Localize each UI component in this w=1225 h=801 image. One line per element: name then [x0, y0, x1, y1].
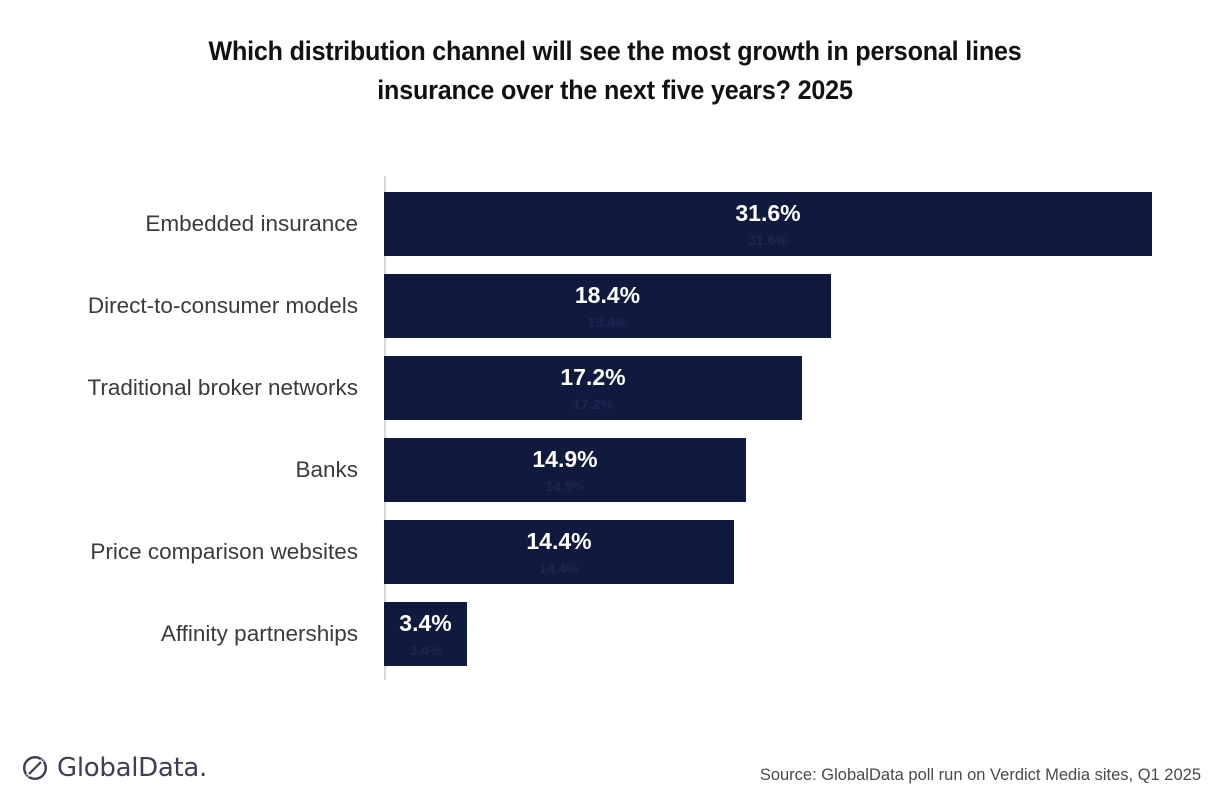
- bar-track: 18.4% 18.4%: [384, 274, 831, 338]
- bar-value-label: 31.6%: [735, 202, 800, 225]
- bar-value-label: 3.4%: [399, 612, 451, 635]
- bar-category-label: Affinity partnerships: [0, 602, 358, 666]
- bar-value-shadow-label: 18.4%: [588, 315, 628, 329]
- bar-rect[interactable]: 17.2% 17.2%: [384, 356, 802, 420]
- source-note: Source: GlobalData poll run on Verdict M…: [760, 766, 1201, 785]
- bar-rect[interactable]: 14.9% 14.9%: [384, 438, 746, 502]
- chart-title-line-2: insurance over the next five years? 2025: [173, 71, 1057, 110]
- bar-value-shadow-label: 14.4%: [539, 561, 579, 575]
- bar-label-group: 14.4% 14.4%: [384, 520, 734, 584]
- bar-value-shadow-label: 3.4%: [410, 643, 442, 657]
- bar-track: 17.2% 17.2%: [384, 356, 802, 420]
- bar-rect[interactable]: 3.4% 3.4%: [384, 602, 467, 666]
- bar-track: 14.9% 14.9%: [384, 438, 746, 502]
- bar-category-label: Traditional broker networks: [0, 356, 358, 420]
- chart-figure: Which distribution channel will see the …: [0, 0, 1225, 801]
- bar-value-label: 14.4%: [526, 530, 591, 553]
- bar-category-label: Embedded insurance: [0, 192, 358, 256]
- bar-label-group: 17.2% 17.2%: [384, 356, 802, 420]
- bar-label-group: 3.4% 3.4%: [384, 602, 467, 666]
- bar-rect[interactable]: 18.4% 18.4%: [384, 274, 831, 338]
- bar-value-label: 17.2%: [560, 366, 625, 389]
- bar-category-label: Price comparison websites: [0, 520, 358, 584]
- bar-value-shadow-label: 17.2%: [573, 397, 613, 411]
- bar-label-group: 31.6% 31.6%: [384, 192, 1152, 256]
- bar-label-group: 14.9% 14.9%: [384, 438, 746, 502]
- globaldata-circle-slash-icon: [20, 753, 50, 783]
- bar-category-label: Direct-to-consumer models: [0, 274, 358, 338]
- chart-title-line-1: Which distribution channel will see the …: [173, 32, 1057, 71]
- bar-track: 31.6% 31.6%: [384, 192, 1152, 256]
- bar-rect[interactable]: 14.4% 14.4%: [384, 520, 734, 584]
- bar-value-label: 18.4%: [575, 284, 640, 307]
- chart-title: Which distribution channel will see the …: [173, 32, 1057, 109]
- bar-track: 3.4% 3.4%: [384, 602, 467, 666]
- bar-value-shadow-label: 31.6%: [748, 233, 788, 247]
- bar-category-label: Banks: [0, 438, 358, 502]
- brand-logo: GlobalData.: [20, 748, 207, 788]
- bar-track: 14.4% 14.4%: [384, 520, 734, 584]
- bar-value-label: 14.9%: [532, 448, 597, 471]
- bar-label-group: 18.4% 18.4%: [384, 274, 831, 338]
- bar-rect[interactable]: 31.6% 31.6%: [384, 192, 1152, 256]
- brand-logo-text: GlobalData.: [57, 753, 207, 783]
- plot-area: Embedded insurance 31.6% 31.6% Direct-to…: [0, 176, 1225, 686]
- bar-value-shadow-label: 14.9%: [545, 479, 585, 493]
